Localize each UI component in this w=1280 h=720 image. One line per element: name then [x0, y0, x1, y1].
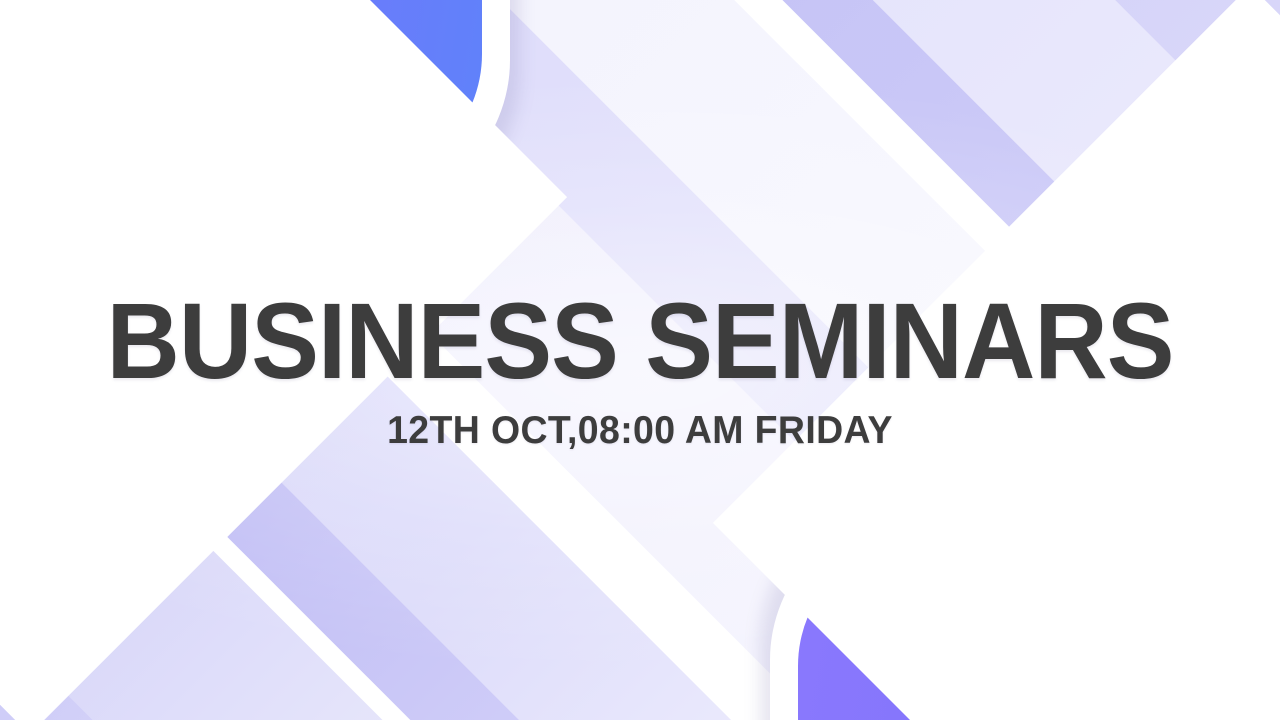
- bottom-right-ribbon-shape: [770, 510, 1280, 720]
- event-datetime-subtitle: 12TH OCT,08:00 AM FRIDAY: [26, 410, 1255, 453]
- event-poster: BUSINESS SEMINARS 12TH OCT,08:00 AM FRID…: [0, 0, 1280, 720]
- event-title: BUSINESS SEMINARS: [38, 286, 1241, 396]
- top-left-ribbon-shape: [0, 0, 510, 210]
- headline-block: BUSINESS SEMINARS 12TH OCT,08:00 AM FRID…: [0, 286, 1280, 453]
